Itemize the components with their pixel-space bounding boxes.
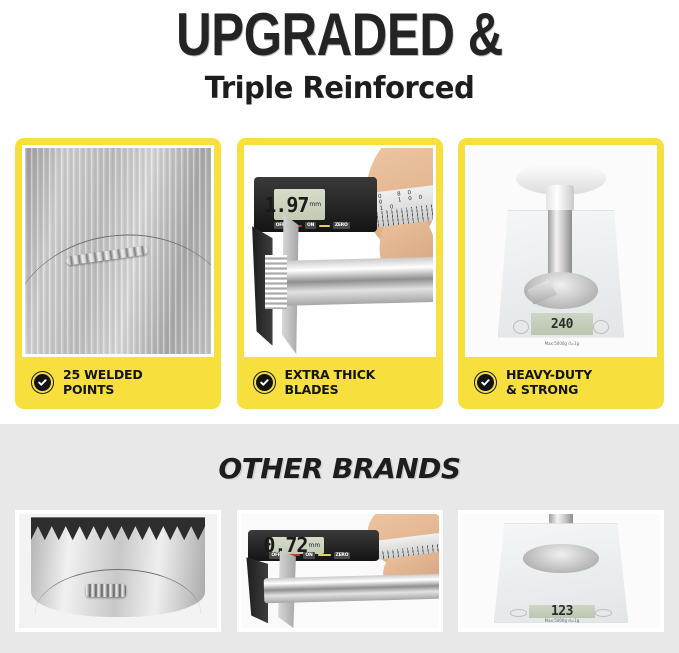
- caliper-yellow-key: [319, 225, 330, 227]
- caption-label: EXTRA THICK BLADES: [285, 367, 376, 397]
- holesaw-scene: [19, 514, 217, 628]
- feature-card-welded-points: 25 WELDED POINTS: [15, 138, 221, 409]
- caliper-display: 1.97 mm: [274, 189, 326, 220]
- scale-reading: 123: [551, 604, 573, 619]
- scale-display: 123: [529, 605, 594, 618]
- check-circle-icon: [31, 371, 54, 394]
- page-title: UPGRADED &: [61, 4, 618, 65]
- caliper-on-button: ON: [305, 222, 316, 229]
- tube-blade-teeth: [265, 255, 287, 309]
- comparison-card-thickness: 0.72 mm OFF ON ZERO: [237, 510, 443, 632]
- photo-frame: 70 80 90 100 110 1.97 mm OFF ON: [244, 145, 436, 357]
- feature-cards-row: 25 WELDED POINTS 70 80 90 100 110: [0, 138, 679, 409]
- caption-line-2: BLADES: [285, 382, 339, 397]
- caliper-unit: mm: [309, 201, 321, 208]
- caption-line-1: HEAVY-DUTY: [506, 367, 592, 382]
- photo-frame: 240 Max:5000g d=1g: [465, 145, 657, 357]
- caliper-scene-small: 0.72 mm OFF ON ZERO: [241, 514, 439, 628]
- caliper-zero-button: ZERO: [334, 552, 351, 559]
- card-caption: HEAVY-DUTY & STRONG: [465, 357, 657, 409]
- other-brands-title: OTHER BRANDS: [0, 424, 679, 485]
- scale-scene: 240 Max:5000g d=1g: [468, 148, 654, 354]
- caliper-zero-button: ZERO: [333, 222, 350, 229]
- caliper-body: 1.97 mm OFF ON ZERO: [254, 177, 377, 233]
- holesaw-weld-points: [86, 584, 126, 598]
- tool-base: [523, 544, 598, 574]
- caliper-yellow-key: [318, 554, 331, 556]
- blade-thickness-photo: 70 80 90 100 110 1.97 mm OFF ON: [247, 148, 433, 354]
- caliper-unit: mm: [308, 542, 320, 549]
- comparison-cards-row: 0.72 mm OFF ON ZERO: [0, 510, 679, 632]
- welded-points-photo: [25, 148, 211, 354]
- scale-display: 240: [531, 313, 592, 336]
- scale-reading: 240: [551, 317, 573, 332]
- card-caption: 25 WELDED POINTS: [22, 357, 214, 409]
- other-brand-thickness-photo: 0.72 mm OFF ON ZERO: [241, 514, 439, 628]
- weight-strength-photo: 240 Max:5000g d=1g: [468, 148, 654, 354]
- caption-line-1: EXTRA THICK: [285, 367, 376, 382]
- photo-frame: [22, 145, 214, 357]
- other-brand-welds-photo: [19, 514, 217, 628]
- comparison-card-weight: 123 Max:5000g d=1g: [458, 510, 664, 632]
- caption-line-2: POINTS: [63, 382, 114, 397]
- check-circle-icon: [474, 371, 497, 394]
- caption-label: HEAVY-DUTY & STRONG: [506, 367, 592, 397]
- caption-line-1: 25 WELDED: [63, 367, 143, 382]
- headline-block: UPGRADED & Triple Reinforced: [0, 0, 679, 106]
- caliper-scene: 70 80 90 100 110 1.97 mm OFF ON: [247, 148, 433, 354]
- caliper-reading: 1.97: [264, 193, 308, 217]
- upgraded-section: UPGRADED & Triple Reinforced: [0, 0, 679, 424]
- other-brand-weight-photo: 123 Max:5000g d=1g: [462, 514, 660, 628]
- comparison-card-welds: [15, 510, 221, 632]
- feature-card-extra-thick-blades: 70 80 90 100 110 1.97 mm OFF ON: [237, 138, 443, 409]
- scale-spec-label: Max:5000g d=1g: [531, 341, 592, 346]
- steel-tube: [268, 257, 432, 307]
- other-brands-section: OTHER BRANDS: [0, 424, 679, 653]
- page-subtitle: Triple Reinforced: [10, 71, 669, 106]
- steel-tube: [264, 573, 439, 603]
- caliper-body: 0.72 mm OFF ON ZERO: [248, 530, 379, 561]
- card-caption: EXTRA THICK BLADES: [244, 357, 436, 409]
- feature-card-heavy-duty: 240 Max:5000g d=1g HEAVY-DUTY: [458, 138, 664, 409]
- caption-label: 25 WELDED POINTS: [63, 367, 143, 397]
- caption-line-2: & STRONG: [506, 382, 578, 397]
- scale-scene-small: 123 Max:5000g d=1g: [462, 514, 660, 628]
- scale-spec-label: Max:5000g d=1g: [529, 618, 594, 623]
- caliper-on-button: ON: [303, 552, 314, 559]
- check-circle-icon: [253, 371, 276, 394]
